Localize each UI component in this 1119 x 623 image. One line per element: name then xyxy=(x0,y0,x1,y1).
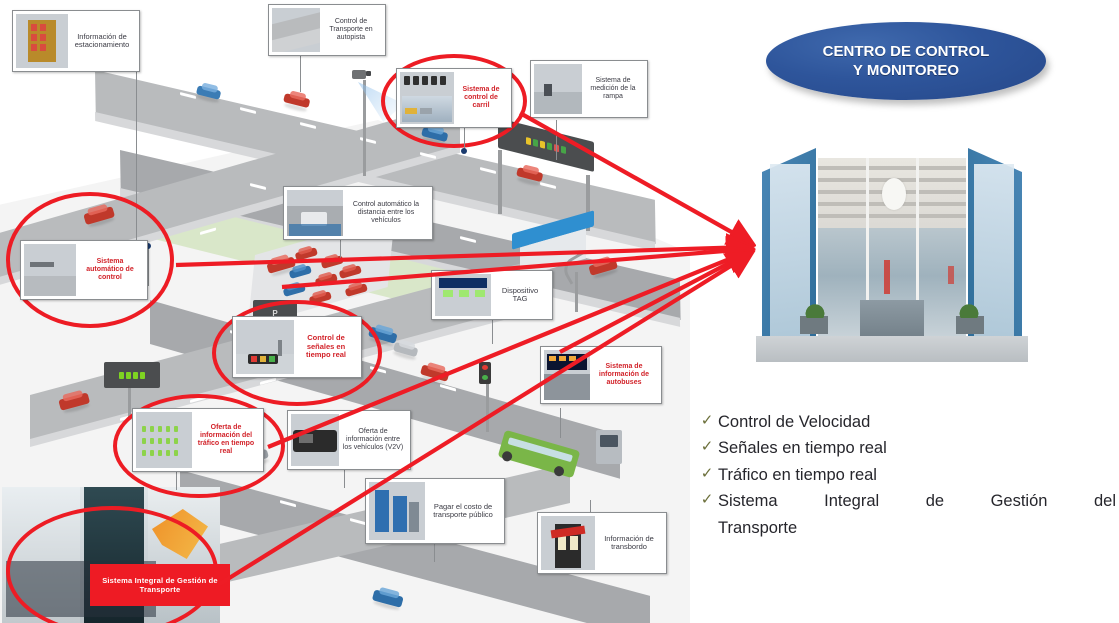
vms-left-board xyxy=(104,362,160,388)
callout-signal-realtime[interactable]: Control de señales en tiempo real xyxy=(232,316,362,378)
control-center-panel: CENTRO DE CONTROL Y MONITOREO xyxy=(690,0,1119,623)
callout-thumbnail xyxy=(272,8,320,52)
callout-label: Control de Transporte en autopista xyxy=(320,18,382,41)
callout-ramp-metering[interactable]: Sistema de medición de la rampa xyxy=(530,60,648,118)
callout-label: Control automático la distancia entre lo… xyxy=(343,201,429,224)
bullet-item: ✓ Control de Velocidad xyxy=(696,412,1116,433)
traffic-light-pole xyxy=(486,380,489,432)
callout-highway-transport[interactable]: Control de Transporte en autopista xyxy=(268,4,386,56)
title-line-2: Y MONITOREO xyxy=(823,61,990,81)
slide-canvas: P xyxy=(0,0,1119,623)
leader-line xyxy=(560,408,561,438)
check-icon: ✓ xyxy=(696,491,718,510)
callout-label: Oferta de información del tráfico en tie… xyxy=(192,424,260,455)
callout-label: Oferta de información entre los vehículo… xyxy=(339,428,407,451)
leader-line xyxy=(340,240,341,262)
callout-parking-info[interactable]: Información de estacionamiento xyxy=(12,10,140,72)
callout-tag-device[interactable]: Dispositivo TAG xyxy=(431,270,553,320)
red-band-integral-system: Sistema Integral de Gestión de Transport… xyxy=(90,564,230,606)
callout-label: Información de estacionamiento xyxy=(68,33,136,50)
leader-anchor-dot xyxy=(461,148,467,154)
gantry-pole xyxy=(498,150,502,214)
camera-pole xyxy=(363,80,366,176)
bullet-item: ✓ Señales en tiempo real xyxy=(696,438,1116,459)
cctv-camera xyxy=(352,70,366,79)
facade-reflection xyxy=(884,260,890,294)
leader-line xyxy=(148,246,149,286)
bullet-item: ✓ Sistema Integral de Gestión del xyxy=(696,491,1116,512)
callout-auto-distance[interactable]: Control automático la distancia entre lo… xyxy=(283,186,433,240)
its-isometric-diagram: P xyxy=(0,0,690,623)
callout-thumbnail xyxy=(534,64,582,114)
traffic-light-green xyxy=(482,375,488,380)
bullet-label: Transporte xyxy=(718,518,1116,539)
red-band-label: Sistema Integral de Gestión de Transport… xyxy=(94,576,226,595)
bullet-item: ✓ Tráfico en tiempo real xyxy=(696,465,1116,486)
callout-thumbnail xyxy=(136,412,192,468)
check-icon: ✓ xyxy=(696,438,718,457)
plant xyxy=(954,296,984,318)
bullet-label: Señales en tiempo real xyxy=(718,438,1116,459)
transit-kiosk-screen xyxy=(600,435,618,447)
building-emblem xyxy=(882,178,906,210)
callout-thumbnail xyxy=(435,274,491,316)
facade-band xyxy=(818,214,966,218)
callout-label: Pagar el costo de transporte público xyxy=(425,503,501,520)
callout-thumbnail xyxy=(400,72,454,124)
plant xyxy=(800,296,830,318)
callout-thumbnail xyxy=(287,190,343,236)
bullet-label: Control de Velocidad xyxy=(718,412,1116,433)
leader-line xyxy=(492,320,493,344)
facade-reflection xyxy=(948,266,954,284)
check-icon: ✓ xyxy=(696,465,718,484)
callout-speed-auto-control[interactable]: Sistema automático de control xyxy=(20,240,148,300)
callout-v2v[interactable]: Oferta de información entre los vehículo… xyxy=(287,410,411,470)
callout-thumbnail xyxy=(236,320,294,374)
leader-line xyxy=(434,544,435,562)
leader-line xyxy=(300,56,301,92)
callout-label: Información de transbordo xyxy=(595,535,663,552)
callout-thumbnail xyxy=(541,516,595,570)
callout-thumbnail xyxy=(16,14,68,68)
bullet-label: Sistema Integral de Gestión del xyxy=(718,491,1116,512)
planter xyxy=(800,316,828,334)
callout-label: Dispositivo TAG xyxy=(491,287,549,304)
callout-traffic-info-offer[interactable]: Oferta de información del tráfico en tie… xyxy=(132,408,264,472)
leader-line xyxy=(344,470,345,488)
callout-bus-info[interactable]: Sistema de información de autobuses xyxy=(540,346,662,404)
callout-lane-control[interactable]: Sistema de control de carril xyxy=(396,68,512,128)
check-icon: ✓ xyxy=(696,412,718,431)
leader-line xyxy=(556,120,557,160)
callout-transfer-info[interactable]: Información de transbordo xyxy=(537,512,667,574)
bullet-label: Tráfico en tiempo real xyxy=(718,465,1116,486)
callout-label: Sistema de medición de la rampa xyxy=(582,77,644,100)
callout-label: Sistema de control de carril xyxy=(454,86,508,109)
callout-thumbnail xyxy=(24,244,76,296)
callout-label: Control de señales en tiempo real xyxy=(294,334,358,359)
callout-transit-payment[interactable]: Pagar el costo de transporte público xyxy=(365,478,505,544)
callout-thumbnail xyxy=(369,482,425,540)
callout-thumbnail xyxy=(291,414,339,466)
feature-bullet-list: ✓ Control de Velocidad ✓ Señales en tiem… xyxy=(696,412,1116,544)
control-center-title-badge: CENTRO DE CONTROL Y MONITOREO xyxy=(766,22,1046,100)
callout-label: Sistema automático de control xyxy=(76,258,144,281)
control-center-building-photo xyxy=(756,140,1028,362)
plaza-floor xyxy=(756,336,1028,362)
title-line-1: CENTRO DE CONTROL xyxy=(823,42,990,62)
bullet-item-continuation: Transporte xyxy=(696,518,1116,539)
traffic-light-red xyxy=(482,365,488,370)
callout-thumbnail xyxy=(544,350,590,400)
planter xyxy=(956,316,984,334)
callout-label: Sistema de información de autobuses xyxy=(590,363,658,386)
facade-band xyxy=(818,166,966,170)
